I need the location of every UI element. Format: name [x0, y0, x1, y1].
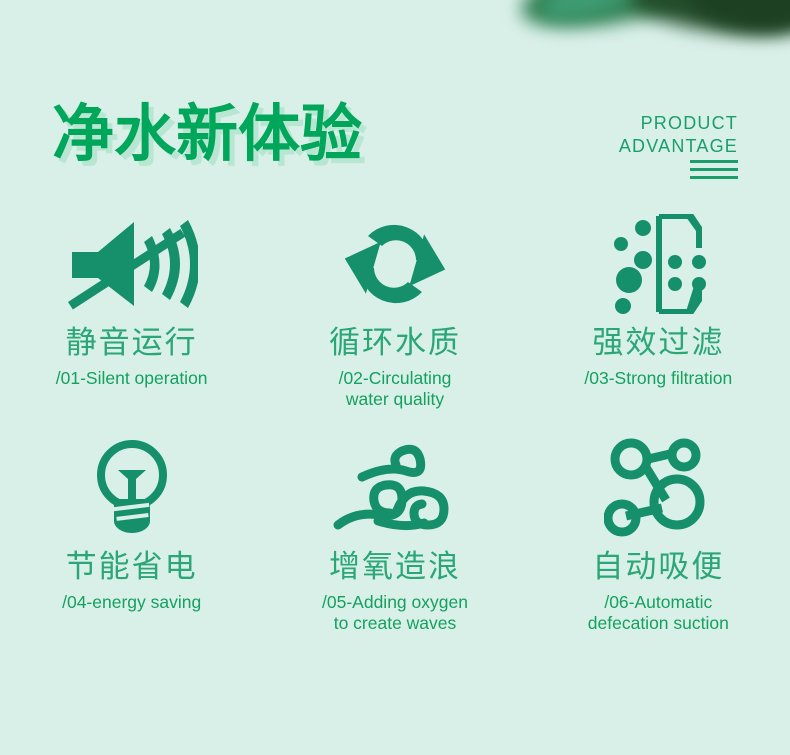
feature-subtitle-line: /01-Silent operation — [56, 368, 208, 389]
filter-particles-icon — [603, 210, 713, 318]
feature-title: 静音运行 — [66, 328, 198, 359]
rule-line-1 — [690, 160, 738, 163]
mute-speaker-icon — [66, 210, 198, 318]
feature-title: 节能省电 — [66, 552, 198, 583]
feature-subtitle: /06-Automatic defecation suction — [588, 592, 729, 635]
feature-item-01: 静音运行 /01-Silent operation — [0, 200, 263, 420]
eyebrow-line-1: PRODUCT — [619, 112, 738, 135]
feature-subtitle-line: water quality — [339, 389, 452, 410]
page-header: 净水新体验 PRODUCT ADVANTAGE — [0, 0, 790, 200]
feature-title: 循环水质 — [329, 328, 461, 359]
feature-item-02: 循环水质 /02-Circulating water quality — [263, 200, 526, 420]
feature-title: 增氧造浪 — [329, 552, 461, 583]
triple-rule-divider — [690, 160, 738, 179]
feature-item-06: 自动吸便 /06-Automatic defecation suction — [527, 420, 790, 650]
feature-grid: 静音运行 /01-Silent operation 循环水质 /02- — [0, 200, 790, 650]
feature-subtitle-line: /02-Circulating — [339, 368, 452, 389]
feature-title: 自动吸便 — [592, 552, 724, 583]
product-advantage-page: 净水新体验 PRODUCT ADVANTAGE — [0, 0, 790, 755]
rule-line-3 — [690, 176, 738, 179]
feature-item-04: 节能省电 /04-energy saving — [0, 420, 263, 650]
feature-subtitle-line: /05-Adding oxygen — [322, 592, 468, 613]
feature-subtitle: /05-Adding oxygen to create waves — [322, 592, 468, 635]
feature-subtitle-line: /04-energy saving — [62, 592, 201, 613]
molecule-nodes-icon — [604, 434, 712, 542]
feature-subtitle-line: /06-Automatic — [588, 592, 729, 613]
eyebrow-line-2: ADVANTAGE — [619, 135, 738, 158]
feature-subtitle-line: /03-Strong filtration — [584, 368, 732, 389]
eyebrow-heading: PRODUCT ADVANTAGE — [619, 112, 738, 158]
feature-subtitle: /02-Circulating water quality — [339, 368, 452, 411]
feature-title: 强效过滤 — [592, 328, 724, 359]
feature-subtitle: /03-Strong filtration — [584, 368, 732, 389]
feature-item-03: 强效过滤 /03-Strong filtration — [527, 200, 790, 420]
rule-line-2 — [690, 168, 738, 171]
feature-item-05: 增氧造浪 /05-Adding oxygen to create waves — [263, 420, 526, 650]
wave-swirl-icon — [332, 434, 458, 542]
feature-subtitle-line: to create waves — [322, 613, 468, 634]
feature-subtitle: /01-Silent operation — [56, 368, 208, 389]
feature-subtitle-line: defecation suction — [588, 613, 729, 634]
recycle-arrows-icon — [340, 210, 450, 318]
feature-subtitle: /04-energy saving — [62, 592, 201, 613]
lightbulb-icon — [84, 434, 180, 542]
page-title: 净水新体验 — [52, 104, 362, 166]
